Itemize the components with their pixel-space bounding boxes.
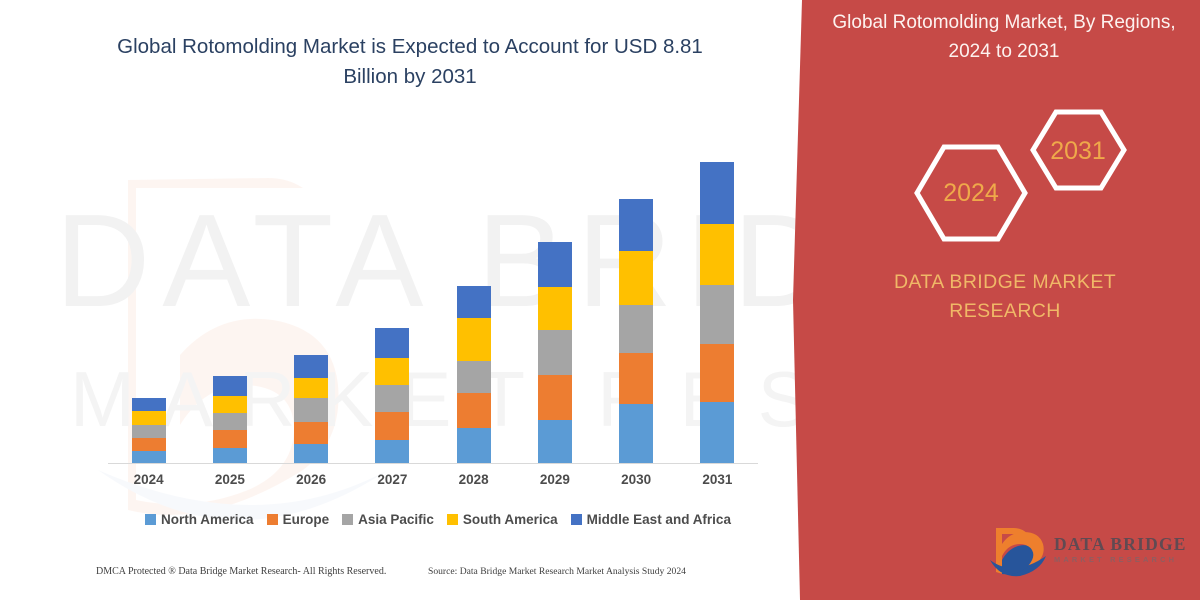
bar-group-2026 bbox=[294, 355, 328, 463]
dbmr-logo-title: DATA BRIDGE bbox=[1054, 534, 1188, 554]
legend-item-europe[interactable]: Europe bbox=[267, 512, 330, 527]
legend-swatch-icon bbox=[342, 514, 353, 525]
hexagon-label-2024: 2031 bbox=[1050, 137, 1106, 165]
x-axis-label-2025: 2025 bbox=[190, 472, 270, 487]
chart-legend: North AmericaEuropeAsia PacificSouth Ame… bbox=[108, 512, 768, 527]
bar-segment-middle-east-and-africa bbox=[457, 286, 491, 318]
bar-segment-south-america bbox=[132, 411, 166, 425]
bar-segment-north-america bbox=[213, 448, 247, 463]
footer-copyright: DMCA Protected ® Data Bridge Market Rese… bbox=[96, 566, 386, 577]
bar-segment-north-america bbox=[294, 444, 328, 463]
dbmr-logo-mark-icon bbox=[988, 526, 1050, 582]
legend-item-asia-pacific[interactable]: Asia Pacific bbox=[342, 512, 434, 527]
bar-segment-asia-pacific bbox=[619, 305, 653, 353]
hexagon-label-2031: 2024 bbox=[943, 179, 999, 207]
dbmr-logo-subtitle: MARKET RESEARCH bbox=[1054, 554, 1188, 565]
bar-segment-europe bbox=[213, 430, 247, 448]
legend-label: Europe bbox=[283, 512, 330, 527]
bar-segment-asia-pacific bbox=[700, 285, 734, 344]
bar-segment-europe bbox=[619, 353, 653, 404]
x-axis-label-2024: 2024 bbox=[109, 472, 189, 487]
bar-segment-south-america bbox=[457, 318, 491, 361]
bar-group-2029 bbox=[538, 242, 572, 463]
chart: 20242025202620272028202920302031 bbox=[0, 0, 800, 600]
bar-group-2030 bbox=[619, 199, 653, 463]
bar-group-2025 bbox=[213, 376, 247, 463]
bar-segment-asia-pacific bbox=[538, 330, 572, 375]
bar-segment-north-america bbox=[538, 420, 572, 463]
bar-segment-south-america bbox=[538, 287, 572, 330]
legend-label: Middle East and Africa bbox=[587, 512, 731, 527]
infographic-root: DATA BRIDGE MARKET RESEARCH Global Rotom… bbox=[0, 0, 1200, 600]
x-axis-label-2029: 2029 bbox=[515, 472, 595, 487]
legend-item-middle-east-and-africa[interactable]: Middle East and Africa bbox=[571, 512, 731, 527]
x-axis-label-2030: 2030 bbox=[596, 472, 676, 487]
bar-segment-europe bbox=[375, 412, 409, 440]
right-panel-brand: DATA BRIDGE MARKET RESEARCH bbox=[820, 268, 1190, 326]
legend-swatch-icon bbox=[267, 514, 278, 525]
legend-label: North America bbox=[161, 512, 254, 527]
bar-segment-asia-pacific bbox=[213, 413, 247, 430]
bar-segment-north-america bbox=[375, 440, 409, 463]
bar-segment-south-america bbox=[213, 396, 247, 413]
bar-group-2028 bbox=[457, 286, 491, 463]
bar-segment-europe bbox=[132, 438, 166, 451]
legend-swatch-icon bbox=[145, 514, 156, 525]
footer-source: Source: Data Bridge Market Research Mark… bbox=[428, 566, 686, 577]
bar-segment-europe bbox=[457, 393, 491, 428]
brand-line-2: RESEARCH bbox=[820, 297, 1190, 326]
bar-segment-europe bbox=[294, 422, 328, 444]
bar-segment-middle-east-and-africa bbox=[132, 398, 166, 411]
bar-segment-asia-pacific bbox=[132, 425, 166, 438]
bar-segment-middle-east-and-africa bbox=[619, 199, 653, 251]
chart-axis-line bbox=[108, 463, 758, 464]
bar-segment-north-america bbox=[700, 402, 734, 463]
right-panel: Global Rotomolding Market, By Regions, 2… bbox=[810, 0, 1200, 600]
right-panel-title: Global Rotomolding Market, By Regions, 2… bbox=[828, 8, 1180, 66]
bar-segment-middle-east-and-africa bbox=[294, 355, 328, 378]
bar-segment-europe bbox=[538, 375, 572, 420]
chart-bars bbox=[108, 140, 758, 463]
bar-segment-asia-pacific bbox=[294, 398, 328, 422]
bar-segment-asia-pacific bbox=[375, 385, 409, 412]
x-axis-label-2028: 2028 bbox=[434, 472, 514, 487]
bar-group-2027 bbox=[375, 328, 409, 463]
chart-x-axis-labels: 20242025202620272028202920302031 bbox=[108, 472, 758, 496]
legend-label: South America bbox=[463, 512, 558, 527]
bar-segment-middle-east-and-africa bbox=[213, 376, 247, 396]
bar-segment-south-america bbox=[619, 251, 653, 305]
footer: DMCA Protected ® Data Bridge Market Rese… bbox=[0, 566, 800, 588]
bar-segment-europe bbox=[700, 344, 734, 402]
x-axis-label-2026: 2026 bbox=[271, 472, 351, 487]
bar-segment-south-america bbox=[375, 358, 409, 385]
legend-item-south-america[interactable]: South America bbox=[447, 512, 558, 527]
dbmr-logo: DATA BRIDGE MARKET RESEARCH bbox=[988, 524, 1188, 586]
bar-segment-south-america bbox=[294, 378, 328, 398]
legend-label: Asia Pacific bbox=[358, 512, 434, 527]
x-axis-label-2031: 2031 bbox=[677, 472, 757, 487]
dbmr-logo-text: DATA BRIDGE MARKET RESEARCH bbox=[1054, 534, 1188, 565]
bar-segment-middle-east-and-africa bbox=[538, 242, 572, 287]
brand-line-1: DATA BRIDGE MARKET bbox=[820, 268, 1190, 297]
legend-swatch-icon bbox=[447, 514, 458, 525]
bar-segment-north-america bbox=[619, 404, 653, 463]
legend-swatch-icon bbox=[571, 514, 582, 525]
bar-group-2031 bbox=[700, 162, 734, 463]
hexagon-group: 2024 2031 bbox=[905, 105, 1135, 245]
bar-segment-north-america bbox=[457, 428, 491, 463]
bar-segment-asia-pacific bbox=[457, 361, 491, 393]
x-axis-label-2027: 2027 bbox=[352, 472, 432, 487]
bar-segment-south-america bbox=[700, 224, 734, 285]
bar-segment-middle-east-and-africa bbox=[700, 162, 734, 224]
bar-segment-middle-east-and-africa bbox=[375, 328, 409, 358]
bar-group-2024 bbox=[132, 398, 166, 463]
legend-item-north-america[interactable]: North America bbox=[145, 512, 254, 527]
bar-segment-north-america bbox=[132, 451, 166, 463]
